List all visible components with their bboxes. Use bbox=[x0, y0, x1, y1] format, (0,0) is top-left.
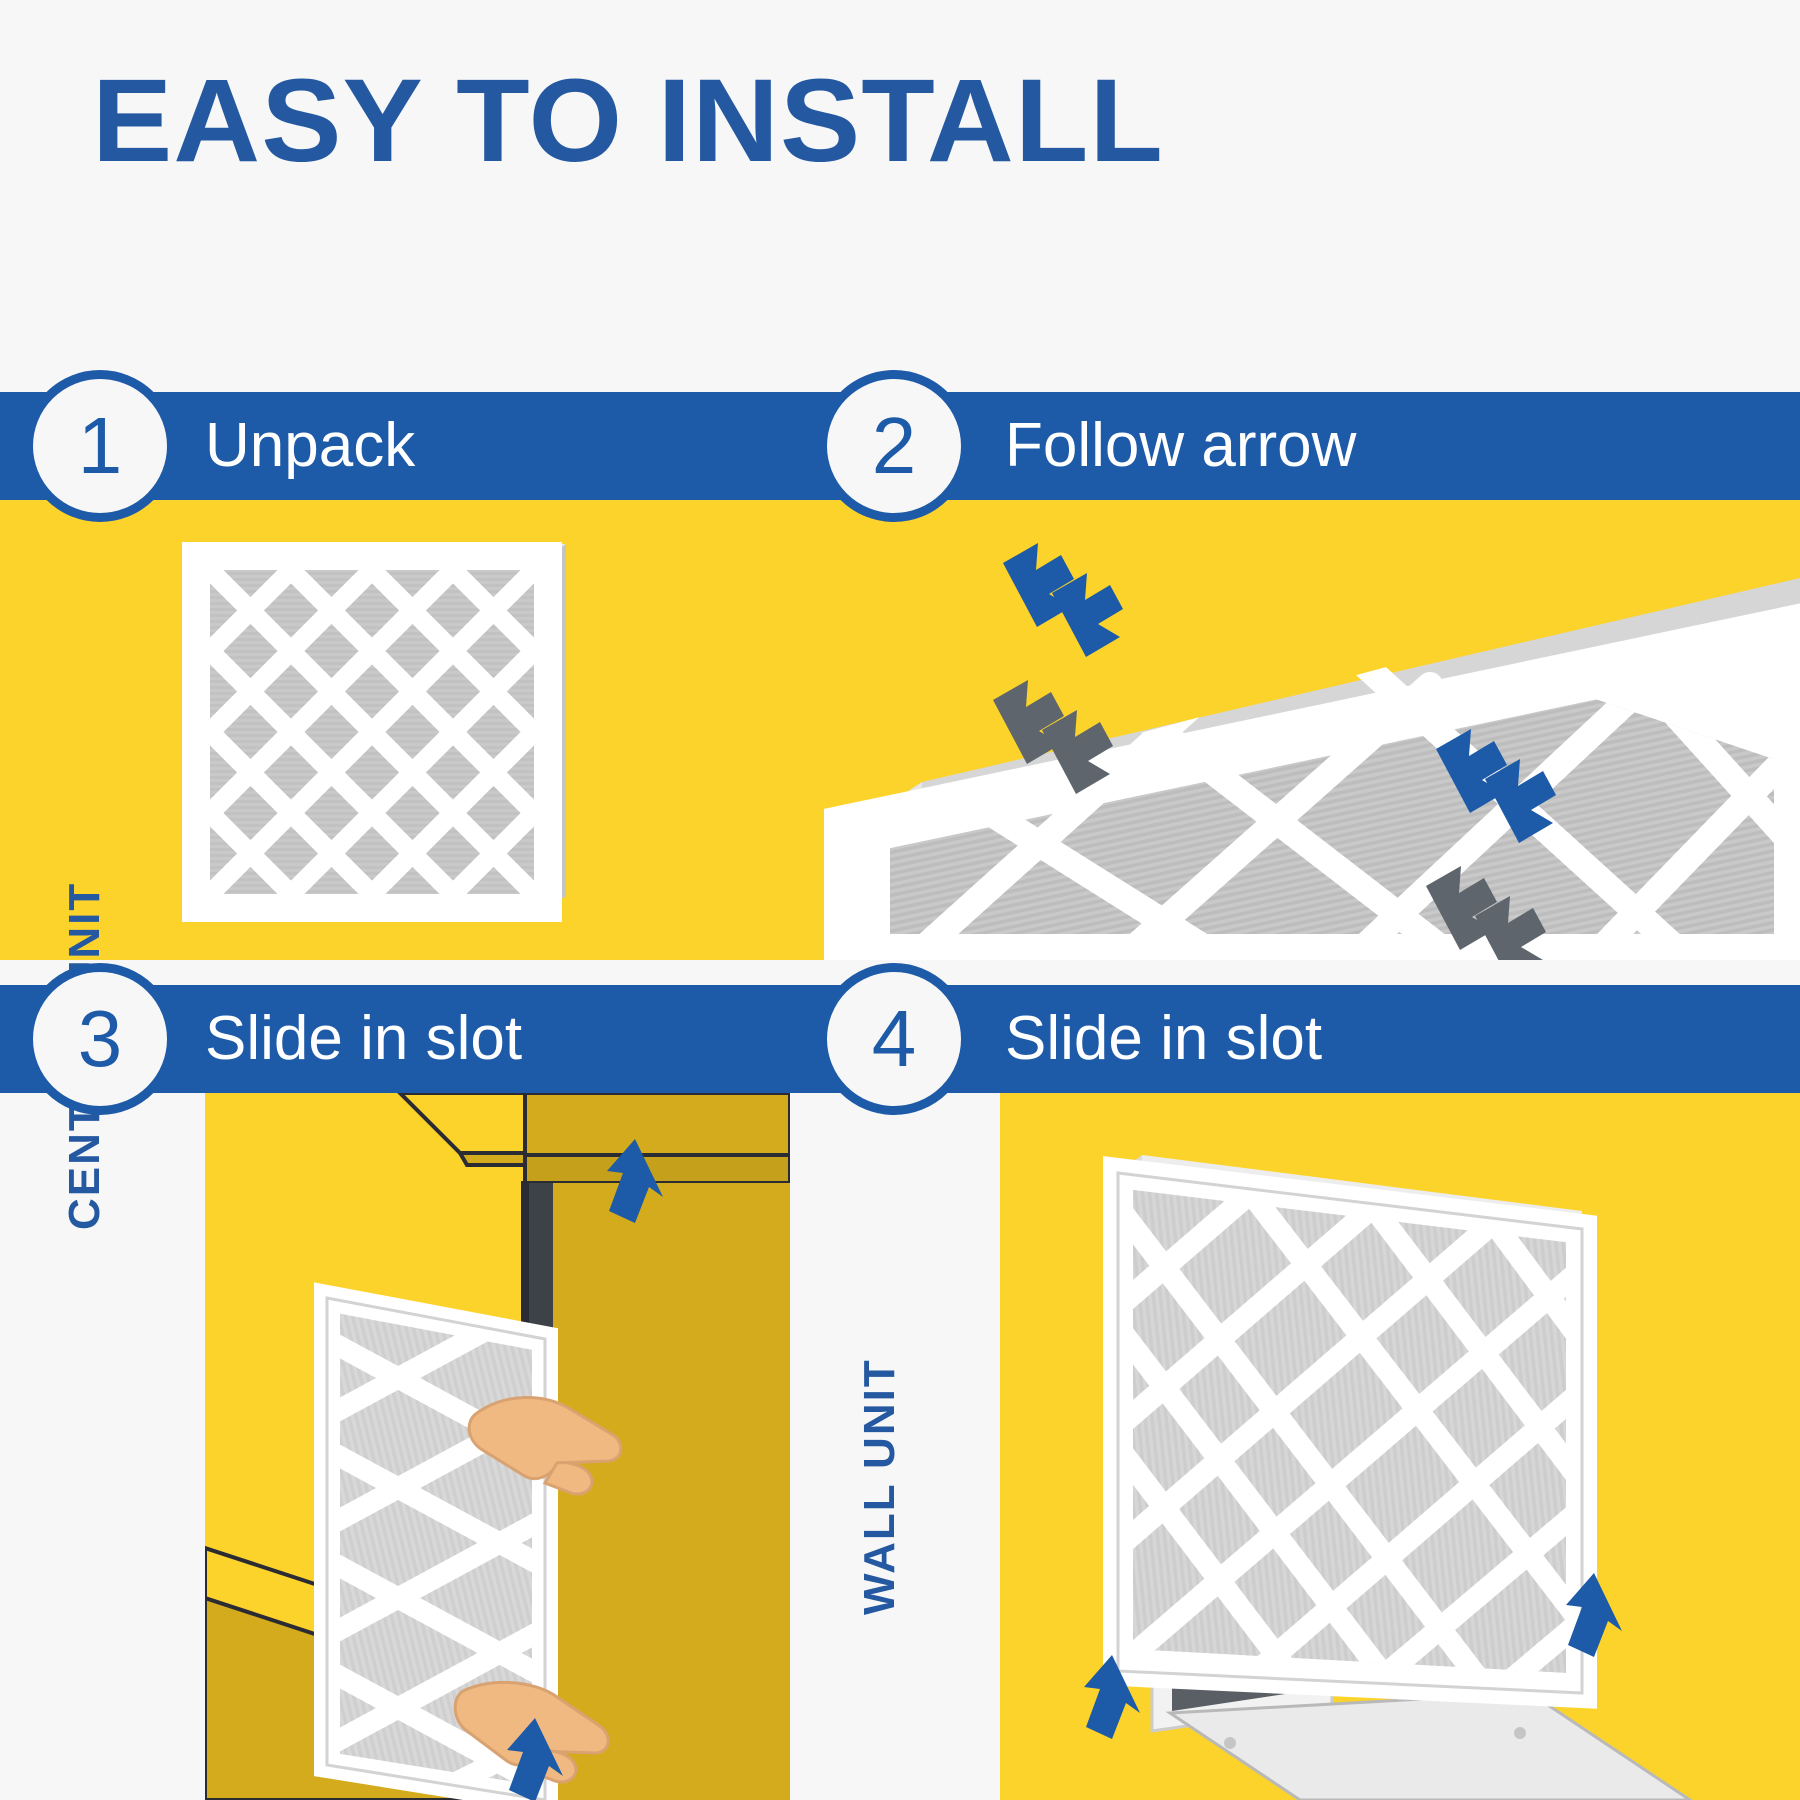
step-2-badge: 2 bbox=[818, 370, 970, 522]
filter-panel-wall bbox=[1100, 1133, 1620, 1733]
step-3-label: Slide in slot bbox=[205, 1008, 522, 1070]
step-2-number: 2 bbox=[872, 406, 917, 486]
step-4-number: 4 bbox=[872, 999, 917, 1079]
page-title: EASY TO INSTALL bbox=[92, 62, 1164, 180]
step-4-side-caption: WALL UNIT bbox=[855, 1358, 905, 1615]
wall-unit-graphic bbox=[1000, 1093, 1800, 1800]
central-unit-graphic bbox=[205, 1093, 790, 1800]
infographic-canvas: EASY TO INSTALL Unpack 1 bbox=[0, 0, 1800, 1800]
step-1-badge: 1 bbox=[24, 370, 176, 522]
flat-air-filter-graphic bbox=[0, 500, 790, 960]
step-1-label: Unpack bbox=[205, 415, 415, 477]
step-1-illustration bbox=[0, 500, 790, 960]
step-3-illustration bbox=[205, 1093, 790, 1800]
airflow-arrow-blue-left bbox=[1003, 543, 1123, 657]
step-4-illustration bbox=[1000, 1093, 1800, 1800]
step-3-number: 3 bbox=[78, 999, 123, 1079]
step-1-number: 1 bbox=[78, 406, 123, 486]
step-2-label: Follow arrow bbox=[1005, 415, 1356, 477]
step-4-badge: 4 bbox=[818, 963, 970, 1115]
tilted-filter-airflow-graphic bbox=[790, 500, 1800, 960]
step-3-badge: 3 bbox=[24, 963, 176, 1115]
step-2-illustration bbox=[790, 500, 1800, 960]
step-4-label: Slide in slot bbox=[1005, 1008, 1322, 1070]
